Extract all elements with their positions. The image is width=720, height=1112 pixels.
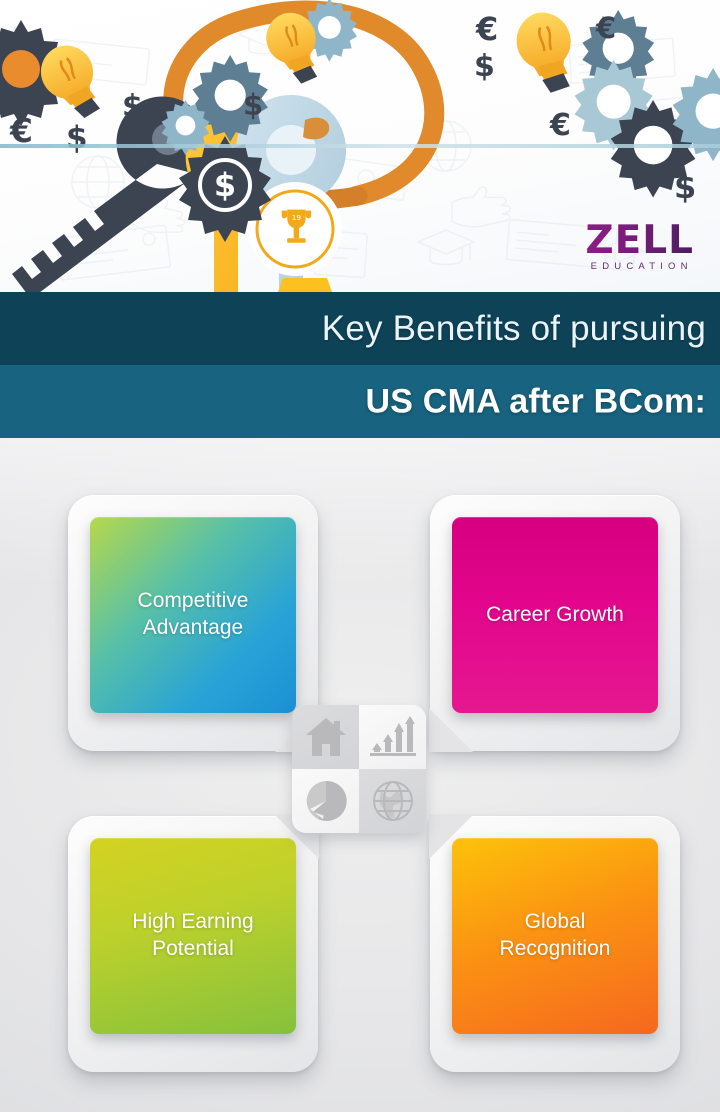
benefit-card-global-recognition[interactable]: GlobalRecognition [430,816,680,1072]
logo-wordmark: ZELL [585,222,694,259]
currency-dollar: $ [474,49,495,84]
hub-cell-pie-chart [292,769,359,833]
currency-euro: € [549,108,571,143]
house-icon [304,716,348,758]
hub-cell-bar-chart [359,705,426,769]
svg-text:$: $ [214,166,236,204]
currency-dollar: $ [243,88,263,122]
pie-chart-icon [304,779,348,823]
benefit-label-competitive-advantage: CompetitiveAdvantage [90,517,296,713]
benefit-card-high-earning-potential[interactable]: High EarningPotential [68,816,318,1072]
currency-dollar: $ [66,120,88,156]
banner-divider [0,144,720,148]
banner-band-upper: Key Benefits of pursuing [0,292,720,365]
currency-euro: € [475,10,498,48]
benefit-label-global-recognition: GlobalRecognition [452,838,658,1034]
hub-cell-house [292,705,359,769]
center-icon-hub [292,705,426,833]
bar-chart-icon [369,716,417,758]
title-banner: Key Benefits of pursuing US CMA after BC… [0,292,720,438]
svg-text:19: 19 [292,213,302,222]
currency-dollar: $ [674,168,696,206]
globe-icon [371,779,415,823]
title-line-2: US CMA after BCom: [366,382,706,421]
benefit-label-career-growth: Career Growth [452,517,658,713]
card-notch [429,708,473,752]
benefit-card-competitive-advantage[interactable]: CompetitiveAdvantage [68,495,318,751]
zell-education-logo: ZELL EDUCATION [585,222,694,272]
infographic-poster: 19 $ [0,0,720,1112]
currency-euro: € [595,11,616,45]
benefit-label-high-earning-potential: High EarningPotential [90,838,296,1034]
lightbulb-right [512,8,579,97]
logo-tagline: EDUCATION [585,261,694,272]
benefit-card-career-growth[interactable]: Career Growth [430,495,680,751]
banner-band-lower: US CMA after BCom: [0,365,720,438]
title-line-1: Key Benefits of pursuing [322,309,706,349]
currency-dollar: $ [122,89,143,124]
hub-cell-globe [359,769,426,833]
